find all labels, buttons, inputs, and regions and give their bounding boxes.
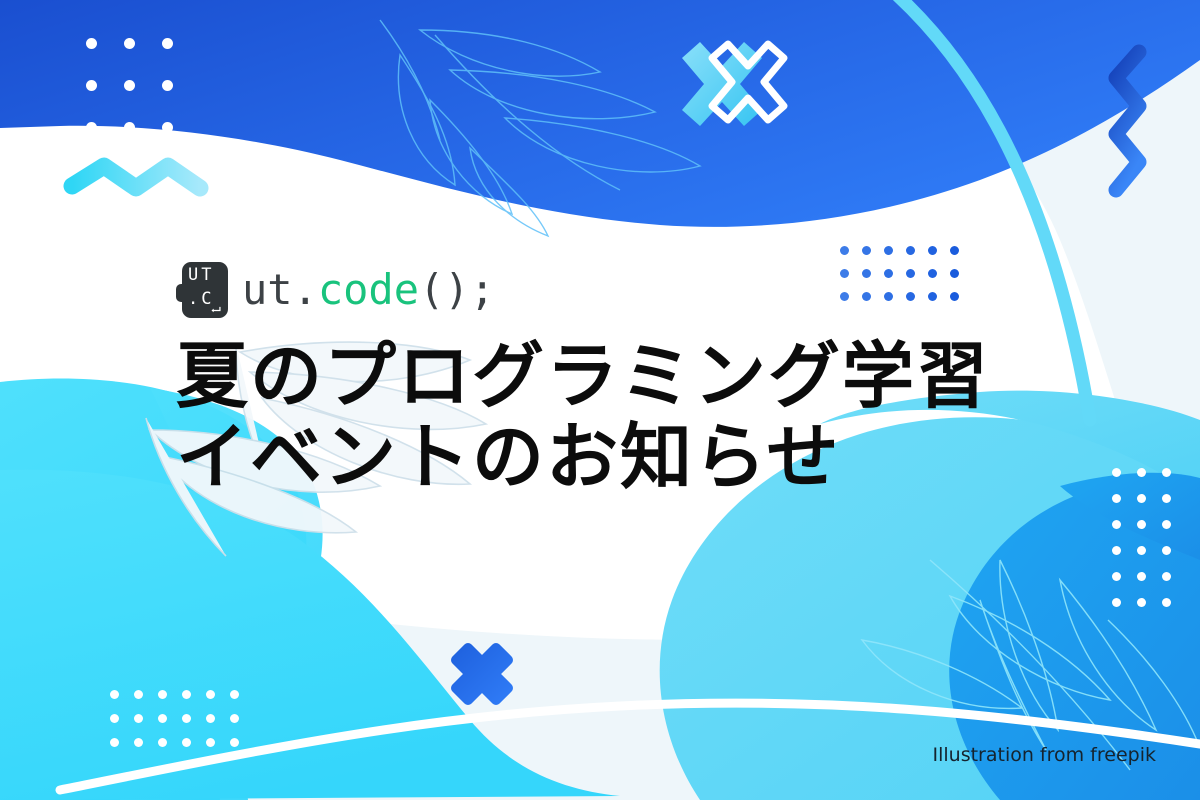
cross-solid-icon [456, 648, 508, 700]
headline-line-1: 夏のプログラミング学習 [176, 336, 990, 417]
logo-line-1: UT [188, 267, 214, 284]
dot-grid-top-left [86, 38, 200, 164]
page-title: 夏のプログラミング学習 イベントのお知らせ [176, 336, 990, 499]
headline-line-2: イベントのお知らせ [176, 417, 990, 498]
brand-lockup: UT .C ut.code(); [176, 262, 495, 318]
utcode-wordmark: ut.code(); [242, 269, 495, 311]
wordmark-suffix: (); [419, 265, 495, 314]
dot-grid-right [1112, 468, 1187, 624]
wordmark-prefix: ut. [242, 265, 318, 314]
wordmark-highlight: code [318, 265, 419, 314]
poster-canvas: UT .C ut.code(); 夏のプログラミング学習 イベントのお知らせ I… [0, 0, 1200, 800]
dot-grid-bottom-left [110, 690, 254, 762]
dot-grid-mid-right [840, 246, 972, 315]
utcode-logo-icon: UT .C [176, 262, 228, 318]
return-arrow-icon [210, 306, 221, 314]
illustration-credit: Illustration from freepik [932, 744, 1156, 766]
